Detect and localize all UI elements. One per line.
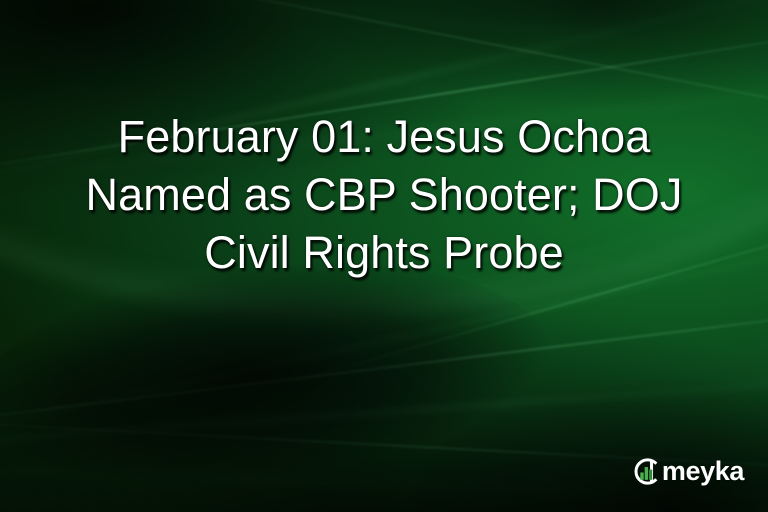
news-headline-card: February 01: Jesus Ochoa Named as CBP Sh… — [0, 0, 768, 512]
meyka-logo[interactable]: meyka — [631, 454, 744, 488]
circle-bar-chart-icon — [631, 456, 662, 487]
meyka-wordmark: meyka — [662, 458, 744, 485]
page-title: February 01: Jesus Ochoa Named as CBP Sh… — [0, 108, 768, 282]
